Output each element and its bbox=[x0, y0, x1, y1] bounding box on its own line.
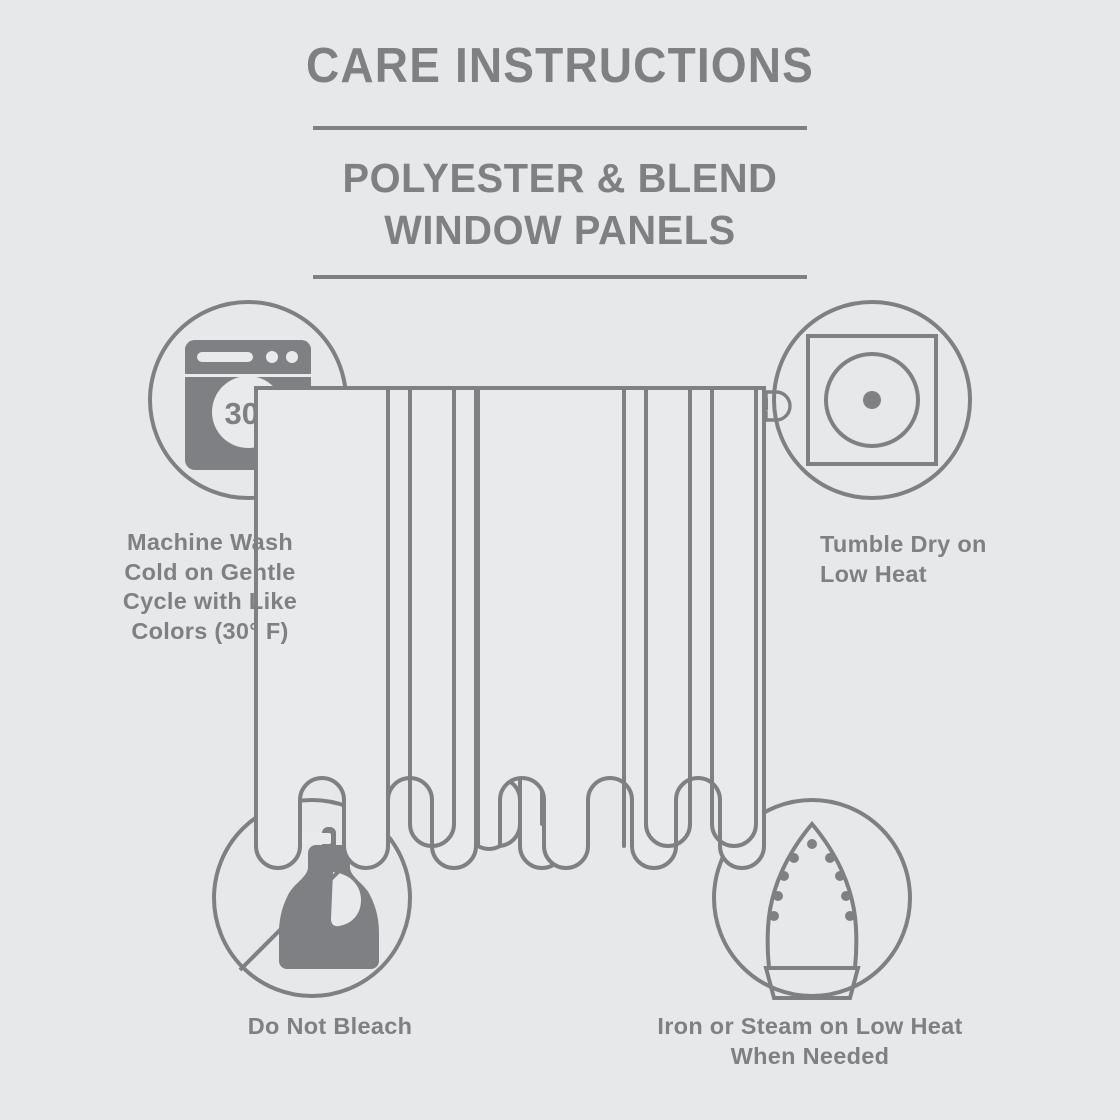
caption-line: Do Not Bleach bbox=[160, 1012, 500, 1042]
caption-tumble-dry: Tumble Dry on Low Heat bbox=[820, 530, 1070, 589]
caption-line: Cold on Gentle bbox=[78, 558, 342, 588]
tumble-dry-icon bbox=[808, 336, 936, 464]
caption-line: Colors (30° F) bbox=[78, 617, 342, 647]
care-instructions-card: CARE INSTRUCTIONS POLYESTER & BLEND WIND… bbox=[0, 0, 1120, 1120]
caption-machine-wash: Machine Wash Cold on Gentle Cycle with L… bbox=[78, 528, 342, 646]
caption-line: Iron or Steam on Low Heat bbox=[580, 1012, 1040, 1042]
caption-line: When Needed bbox=[580, 1042, 1040, 1072]
caption-line: Machine Wash bbox=[78, 528, 342, 558]
caption-iron: Iron or Steam on Low Heat When Needed bbox=[580, 1012, 1040, 1071]
caption-do-not-bleach: Do Not Bleach bbox=[160, 1012, 500, 1042]
caption-line: Tumble Dry on bbox=[820, 530, 1070, 560]
caption-line: Low Heat bbox=[820, 560, 1070, 590]
iron-icon bbox=[766, 824, 858, 998]
caption-line: Cycle with Like bbox=[78, 587, 342, 617]
